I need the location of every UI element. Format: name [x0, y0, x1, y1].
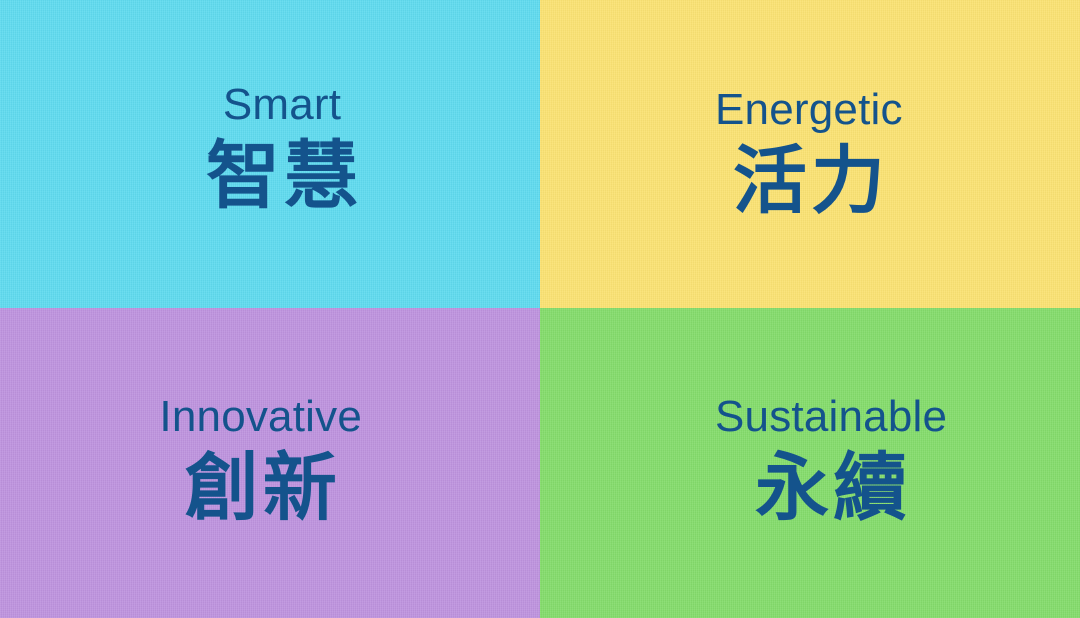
value-label-zh-sustainable: 永續	[751, 451, 911, 525]
value-card-innovative[interactable]: Innovative 創新	[0, 308, 540, 618]
values-grid: Smart 智慧 Energetic 活力 Innovative 創新 Sust…	[0, 0, 1080, 618]
value-label-en-smart: Smart	[223, 83, 341, 127]
value-label-zh-innovative: 創新	[181, 451, 341, 525]
value-label-zh-energetic: 活力	[729, 144, 889, 218]
value-card-text-block: Energetic 活力	[715, 88, 903, 218]
value-card-text-block: Sustainable 永續	[715, 395, 947, 525]
value-label-zh-smart: 智慧	[202, 139, 362, 213]
value-label-en-energetic: Energetic	[715, 88, 903, 132]
value-card-text-block: Smart 智慧	[202, 83, 362, 213]
value-card-smart[interactable]: Smart 智慧	[0, 0, 540, 308]
value-card-sustainable[interactable]: Sustainable 永續	[540, 308, 1080, 618]
value-card-energetic[interactable]: Energetic 活力	[540, 0, 1080, 308]
value-label-en-sustainable: Sustainable	[715, 395, 947, 439]
value-card-text-block: Innovative 創新	[159, 395, 362, 525]
value-label-en-innovative: Innovative	[159, 395, 362, 439]
